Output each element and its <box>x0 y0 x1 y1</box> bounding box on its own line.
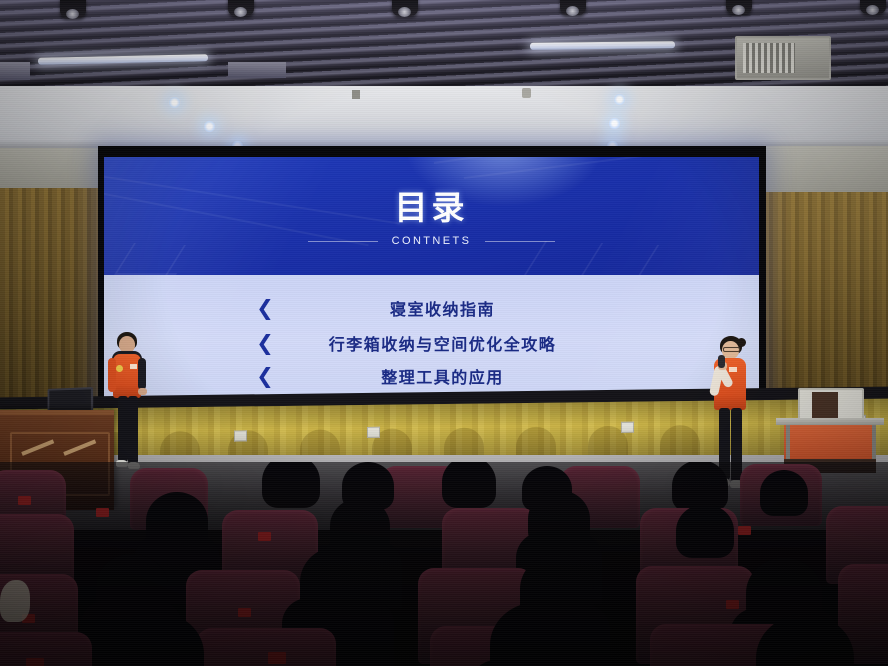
microphone-icon[interactable] <box>718 355 725 368</box>
side-table-top <box>776 418 884 425</box>
vest-logo <box>729 367 737 372</box>
leg <box>128 396 138 464</box>
ceiling-sensor-icon <box>522 88 531 98</box>
ceiling-air-vent <box>735 36 831 80</box>
arm <box>108 358 116 392</box>
audience-darkening <box>0 462 888 666</box>
audience-area <box>0 462 888 666</box>
subtitle-rule-left <box>308 241 378 242</box>
ceiling-panel <box>228 62 286 78</box>
ceiling-panel <box>0 62 30 80</box>
downlight-icon <box>168 96 181 109</box>
vest-logo <box>130 364 137 369</box>
equipment-case-inner <box>812 392 838 418</box>
auditorium-scene: 目录 CONTNETS ❮ 寝室收纳指南 ❮ 行李箱收纳与空间优化全攻略 ❮ 整… <box>0 0 888 666</box>
slide-title: 目录 <box>104 191 759 224</box>
stage-light-icon <box>392 0 418 16</box>
table-leg <box>786 425 790 459</box>
table-leg <box>872 425 876 459</box>
left-chevron-icon: ❮ <box>254 298 276 319</box>
presenter-left[interactable] <box>104 332 150 472</box>
stage-light-icon <box>860 0 886 14</box>
left-chevron-icon: ❮ <box>254 366 276 387</box>
ceiling-speaker-icon <box>352 90 360 99</box>
slide-subtitle: CONTNETS <box>392 235 472 247</box>
wall-upper-left <box>0 148 104 190</box>
wood-panel-left-shade <box>0 188 104 418</box>
arm <box>138 358 146 390</box>
stage-light-icon <box>726 0 752 14</box>
orange-vest <box>113 354 141 398</box>
leg <box>118 396 128 462</box>
slide-header-band: 目录 CONTNETS <box>104 157 759 275</box>
list-item-label: 寝室收纳指南 <box>276 296 759 320</box>
list-item-label: 行李箱收纳与空间优化全攻略 <box>276 331 759 355</box>
subtitle-rule-right <box>485 241 555 242</box>
slide-body: ❮ 寝室收纳指南 ❮ 行李箱收纳与空间优化全攻略 ❮ 整理工具的应用 <box>104 275 759 402</box>
downlight-icon <box>608 117 621 130</box>
wood-panel-right-shade <box>760 192 888 420</box>
slide-subtitle-row: CONTNETS <box>104 235 759 247</box>
wall-upper-right <box>760 146 888 194</box>
vest-badge <box>116 365 123 372</box>
downlight-icon <box>613 93 626 106</box>
presentation-slide[interactable]: 目录 CONTNETS ❮ 寝室收纳指南 ❮ 行李箱收纳与空间优化全攻略 ❮ 整… <box>104 157 759 402</box>
stage-light-icon <box>228 0 254 16</box>
left-chevron-icon: ❮ <box>254 333 276 354</box>
stage-light-icon <box>60 0 86 18</box>
hair-bun <box>737 338 746 347</box>
glasses-icon <box>723 347 740 352</box>
list-item[interactable]: ❮ 整理工具的应用 <box>104 361 759 391</box>
list-item[interactable]: ❮ 寝室收纳指南 <box>104 293 759 323</box>
hand <box>138 388 147 395</box>
side-table-panel <box>784 425 876 459</box>
list-item[interactable]: ❮ 行李箱收纳与空间优化全攻略 <box>104 328 759 358</box>
stage-light-icon <box>560 0 586 15</box>
list-item-label: 整理工具的应用 <box>276 364 759 388</box>
downlight-icon <box>203 120 216 133</box>
